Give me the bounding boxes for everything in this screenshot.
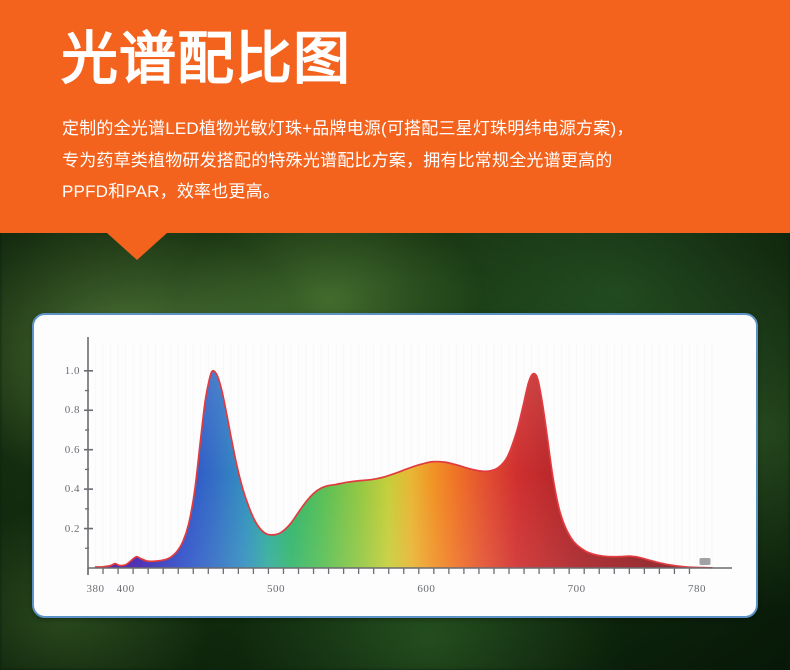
x-axis-tick-labels: 380400500600700780 — [34, 315, 758, 618]
x-axis-tick-label: 500 — [267, 583, 285, 595]
page-title: 光谱配比图 — [61, 26, 351, 93]
x-axis-tick-label: 600 — [417, 583, 435, 595]
header-banner: 光谱配比图 定制的全光谱LED植物光敏灯珠+品牌电源(可搭配三星灯珠明纬电源方案… — [0, 0, 790, 233]
banner-pointer-triangle — [107, 233, 167, 260]
spectrum-chart-panel: 1.00.80.60.40.2 380400500600700780 — [32, 313, 758, 618]
banner-description-line-1: 定制的全光谱LED植物光敏灯珠+品牌电源(可搭配三星灯珠明纬电源方案)， — [62, 113, 748, 145]
x-axis-tick-label: 400 — [117, 583, 135, 595]
banner-description-line-3: PPFD和PAR，效率也更高。 — [62, 176, 748, 208]
page-root: 光谱配比图 定制的全光谱LED植物光敏灯珠+品牌电源(可搭配三星灯珠明纬电源方案… — [0, 0, 790, 670]
banner-description: 定制的全光谱LED植物光敏灯珠+品牌电源(可搭配三星灯珠明纬电源方案)， 专为药… — [62, 113, 748, 208]
x-axis-tick-label: 700 — [568, 583, 586, 595]
x-axis-tick-label: 780 — [688, 583, 706, 595]
x-axis-tick-label: 380 — [87, 583, 105, 595]
banner-description-line-2: 专为药草类植物研发搭配的特殊光谱配比方案，拥有比常规全光谱更高的 — [62, 145, 748, 177]
